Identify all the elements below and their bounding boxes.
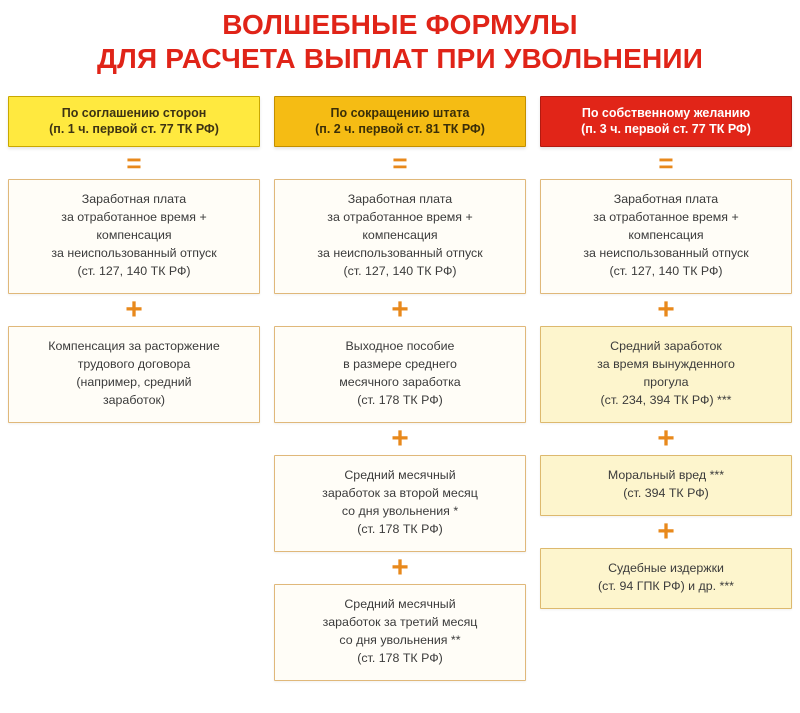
formula-box-line: Средний месячный (283, 467, 517, 485)
formula-box[interactable]: Средний заработокза время вынужденногопр… (540, 326, 792, 423)
operator-plus: + (540, 423, 792, 455)
formula-box[interactable]: Средний месячныйзаработок за третий меся… (274, 584, 526, 681)
formula-box-line: за неиспользованный отпуск (17, 245, 251, 263)
formula-box-line: месячного заработка (283, 374, 517, 392)
column-staff-reduction: По сокращению штата(п. 2 ч. первой ст. 8… (274, 96, 526, 681)
formula-box-line: заработок за третий месяц (283, 614, 517, 632)
formula-box[interactable]: Средний месячныйзаработок за второй меся… (274, 455, 526, 552)
operator-equals: = (540, 147, 792, 179)
formula-box-line: за отработанное время + (17, 209, 251, 227)
column-header-line: (п. 1 ч. первой ст. 77 ТК РФ) (13, 121, 255, 137)
formula-box-line: со дня увольнения ** (283, 632, 517, 650)
formula-box-line: компенсация (549, 227, 783, 245)
column-header-own-will[interactable]: По собственному желанию(п. 3 ч. первой с… (540, 96, 792, 147)
title-line-2: ДЛЯ РАСЧЕТА ВЫПЛАТ ПРИ УВОЛЬНЕНИИ (0, 44, 800, 74)
formula-box[interactable]: Моральный вред ***(ст. 394 ТК РФ) (540, 455, 792, 516)
formula-box-line: (ст. 234, 394 ТК РФ) *** (549, 392, 783, 410)
columns-container: По соглашению сторон(п. 1 ч. первой ст. … (0, 96, 800, 681)
formula-box-line: со дня увольнения * (283, 503, 517, 521)
formula-box-line: компенсация (283, 227, 517, 245)
operator-plus: + (274, 294, 526, 326)
formula-box-line: заработок за второй месяц (283, 485, 517, 503)
formula-box-line: трудового договора (17, 356, 251, 374)
title-line-1: ВОЛШЕБНЫЕ ФОРМУЛЫ (0, 10, 800, 40)
formula-box-line: за отработанное время + (283, 209, 517, 227)
formula-box-line: (ст. 127, 140 ТК РФ) (17, 263, 251, 281)
formula-box-line: Заработная плата (549, 191, 783, 209)
column-header-line: По соглашению сторон (13, 105, 255, 121)
infographic-page: ВОЛШЕБНЫЕ ФОРМУЛЫ ДЛЯ РАСЧЕТА ВЫПЛАТ ПРИ… (0, 0, 800, 713)
formula-box-line: (ст. 127, 140 ТК РФ) (283, 263, 517, 281)
page-title: ВОЛШЕБНЫЕ ФОРМУЛЫ ДЛЯ РАСЧЕТА ВЫПЛАТ ПРИ… (0, 0, 800, 74)
formula-box[interactable]: Заработная платаза отработанное время +к… (540, 179, 792, 294)
column-own-will: По собственному желанию(п. 3 ч. первой с… (540, 96, 792, 681)
column-header-staff-reduction[interactable]: По сокращению штата(п. 2 ч. первой ст. 8… (274, 96, 526, 147)
operator-plus: + (274, 552, 526, 584)
formula-box-line: (ст. 178 ТК РФ) (283, 521, 517, 539)
formula-box-line: Заработная плата (283, 191, 517, 209)
column-header-line: (п. 3 ч. первой ст. 77 ТК РФ) (545, 121, 787, 137)
formula-box[interactable]: Заработная платаза отработанное время +к… (8, 179, 260, 294)
formula-box-line: Судебные издержки (549, 560, 783, 578)
column-header-line: (п. 2 ч. первой ст. 81 ТК РФ) (279, 121, 521, 137)
formula-box-line: заработок) (17, 392, 251, 410)
column-header-line: По собственному желанию (545, 105, 787, 121)
formula-box-line: прогула (549, 374, 783, 392)
formula-box[interactable]: Судебные издержки(ст. 94 ГПК РФ) и др. *… (540, 548, 792, 609)
formula-box-line: (ст. 394 ТК РФ) (549, 485, 783, 503)
operator-plus: + (274, 423, 526, 455)
formula-box-line: (ст. 94 ГПК РФ) и др. *** (549, 578, 783, 596)
formula-box-line: за время вынужденного (549, 356, 783, 374)
formula-box-line: компенсация (17, 227, 251, 245)
formula-box-line: (ст. 178 ТК РФ) (283, 650, 517, 668)
formula-box[interactable]: Заработная платаза отработанное время +к… (274, 179, 526, 294)
formula-box[interactable]: Выходное пособиев размере среднегомесячн… (274, 326, 526, 423)
operator-equals: = (8, 147, 260, 179)
formula-box-line: (ст. 178 ТК РФ) (283, 392, 517, 410)
formula-box[interactable]: Компенсация за расторжениетрудового дого… (8, 326, 260, 423)
formula-box-line: (например, средний (17, 374, 251, 392)
formula-box-line: за неиспользованный отпуск (283, 245, 517, 263)
formula-box-line: Выходное пособие (283, 338, 517, 356)
formula-box-line: Средний заработок (549, 338, 783, 356)
formula-box-line: за неиспользованный отпуск (549, 245, 783, 263)
formula-box-line: (ст. 127, 140 ТК РФ) (549, 263, 783, 281)
formula-box-line: Моральный вред *** (549, 467, 783, 485)
operator-plus: + (540, 516, 792, 548)
operator-equals: = (274, 147, 526, 179)
formula-box-line: за отработанное время + (549, 209, 783, 227)
formula-box-line: Компенсация за расторжение (17, 338, 251, 356)
column-header-line: По сокращению штата (279, 105, 521, 121)
column-agreement: По соглашению сторон(п. 1 ч. первой ст. … (8, 96, 260, 681)
formula-box-line: Заработная плата (17, 191, 251, 209)
operator-plus: + (8, 294, 260, 326)
formula-box-line: в размере среднего (283, 356, 517, 374)
operator-plus: + (540, 294, 792, 326)
column-header-agreement[interactable]: По соглашению сторон(п. 1 ч. первой ст. … (8, 96, 260, 147)
formula-box-line: Средний месячный (283, 596, 517, 614)
